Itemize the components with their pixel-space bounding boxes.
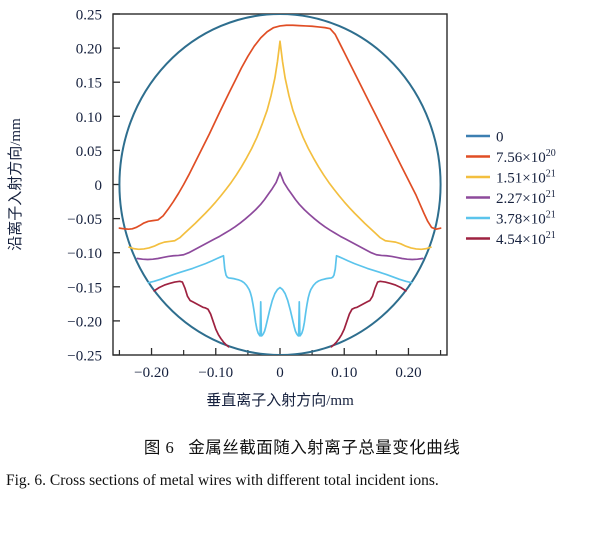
y-tick-label: −0.25	[67, 349, 102, 365]
caption-figure-number: 图 6	[144, 438, 174, 457]
y-tick-label: −0.10	[67, 246, 102, 262]
y-tick-label: 0.25	[76, 8, 102, 24]
x-axis-title: 垂直离子入射方向/mm	[206, 392, 354, 409]
legend-label: 7.56×1020	[496, 148, 556, 166]
legend-label: 1.51×1021	[496, 169, 556, 187]
legend-label: 3.78×1021	[496, 210, 556, 228]
y-axis-title: 沿离子入射方向/mm	[7, 118, 24, 251]
legend-label: 2.27×1021	[496, 189, 556, 207]
y-tick-label: −0.20	[67, 314, 102, 330]
y-tick-label: 0.15	[76, 76, 102, 92]
plot-frame	[113, 14, 447, 355]
y-tick-label: 0.10	[76, 110, 102, 126]
legend-item-1[interactable]: 7.56×1020	[466, 148, 556, 166]
y-tick-label: 0.05	[76, 144, 102, 160]
chart-svg: −0.25−0.20−0.15−0.10−0.0500.050.100.150.…	[0, 0, 604, 430]
legend-item-4[interactable]: 3.78×1021	[466, 210, 556, 228]
x-tick-label: −0.20	[134, 365, 169, 381]
x-tick-label: −0.10	[198, 365, 233, 381]
legend-item-5[interactable]: 4.54×1021	[466, 230, 556, 248]
legend: 07.56×10201.51×10212.27×10213.78×10214.5…	[466, 130, 556, 249]
y-tick-label: −0.15	[67, 280, 102, 296]
caption-chinese: 图 6金属丝截面随入射离子总量变化曲线	[0, 436, 604, 461]
x-tick-label: 0.20	[395, 365, 421, 381]
y-tick-label: −0.05	[67, 212, 102, 228]
x-tick-label: 0	[276, 365, 284, 381]
legend-item-3[interactable]: 2.27×1021	[466, 189, 556, 207]
x-tick-label: 0.10	[331, 365, 357, 381]
y-tick-label: 0	[95, 178, 103, 194]
legend-item-2[interactable]: 1.51×1021	[466, 169, 556, 187]
caption-english: Fig. 6. Cross sections of metal wires wi…	[0, 468, 604, 493]
legend-item-0[interactable]: 0	[466, 130, 504, 146]
y-tick-label: 0.20	[76, 42, 102, 58]
legend-label: 0	[496, 130, 504, 146]
figure-panel: −0.25−0.20−0.15−0.10−0.0500.050.100.150.…	[0, 0, 604, 430]
caption-title-cn: 金属丝截面随入射离子总量变化曲线	[188, 438, 460, 457]
figure-caption: 图 6金属丝截面随入射离子总量变化曲线 Fig. 6. Cross sectio…	[0, 436, 604, 493]
legend-label: 4.54×1021	[496, 230, 556, 248]
